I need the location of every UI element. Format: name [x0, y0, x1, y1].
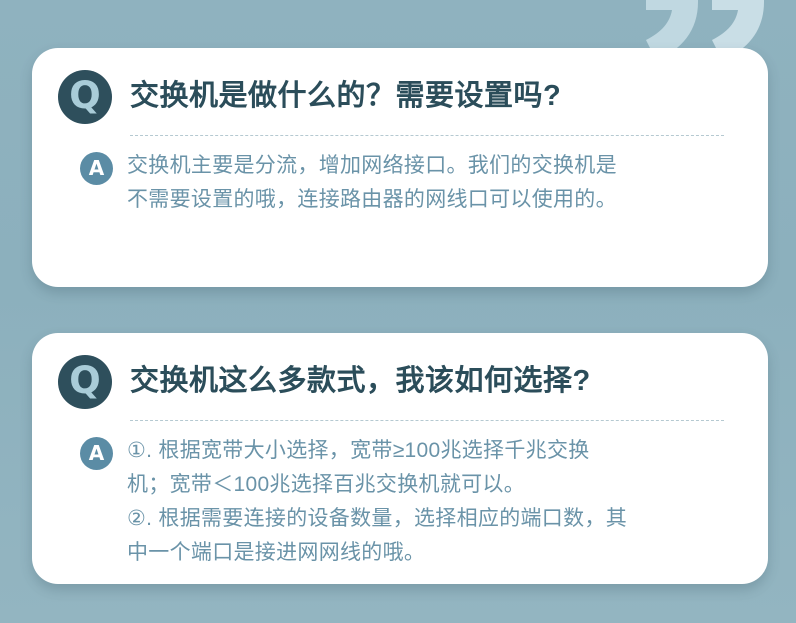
answer-line: 不需要设置的哦，连接路由器的网线口可以使用的。	[127, 183, 617, 217]
answer-text: 交换机主要是分流，增加网络接口。我们的交换机是 不需要设置的哦，连接路由器的网线…	[127, 149, 617, 217]
answer-line: 中一个端口是接进网网线的哦。	[127, 536, 627, 570]
question-row: Q 交换机这么多款式，我该如何选择?	[58, 355, 734, 409]
faq-card: Q 交换机是做什么的？需要设置吗? A 交换机主要是分流，增加网络接口。我们的交…	[32, 48, 768, 287]
question-badge-icon: Q	[58, 70, 112, 124]
question-text: 交换机这么多款式，我该如何选择?	[130, 365, 591, 398]
faq-card: Q 交换机这么多款式，我该如何选择? A ①. 根据宽带大小选择，宽带≥100兆…	[32, 333, 768, 584]
faq-page: Q 交换机是做什么的？需要设置吗? A 交换机主要是分流，增加网络接口。我们的交…	[0, 0, 796, 623]
dashed-divider	[130, 135, 724, 136]
answer-line: ①. 根据宽带大小选择，宽带≥100兆选择千兆交换	[127, 434, 627, 468]
faq-card-content: Q 交换机是做什么的？需要设置吗? A 交换机主要是分流，增加网络接口。我们的交…	[32, 48, 768, 217]
question-badge-icon: Q	[58, 355, 112, 409]
answer-row: A ①. 根据宽带大小选择，宽带≥100兆选择千兆交换 机；宽带＜100兆选择百…	[58, 434, 734, 570]
answer-line: 机；宽带＜100兆选择百兆交换机就可以。	[127, 468, 627, 502]
answer-badge-icon: A	[80, 437, 113, 470]
answer-text: ①. 根据宽带大小选择，宽带≥100兆选择千兆交换 机；宽带＜100兆选择百兆交…	[127, 434, 627, 570]
faq-card-content: Q 交换机这么多款式，我该如何选择? A ①. 根据宽带大小选择，宽带≥100兆…	[32, 333, 768, 570]
question-row: Q 交换机是做什么的？需要设置吗?	[58, 70, 734, 124]
answer-line: ②. 根据需要连接的设备数量，选择相应的端口数，其	[127, 502, 627, 536]
question-text: 交换机是做什么的？需要设置吗?	[130, 80, 561, 113]
answer-line: 交换机主要是分流，增加网络接口。我们的交换机是	[127, 149, 617, 183]
answer-badge-icon: A	[80, 152, 113, 185]
dashed-divider	[130, 420, 724, 421]
answer-row: A 交换机主要是分流，增加网络接口。我们的交换机是 不需要设置的哦，连接路由器的…	[58, 149, 734, 217]
